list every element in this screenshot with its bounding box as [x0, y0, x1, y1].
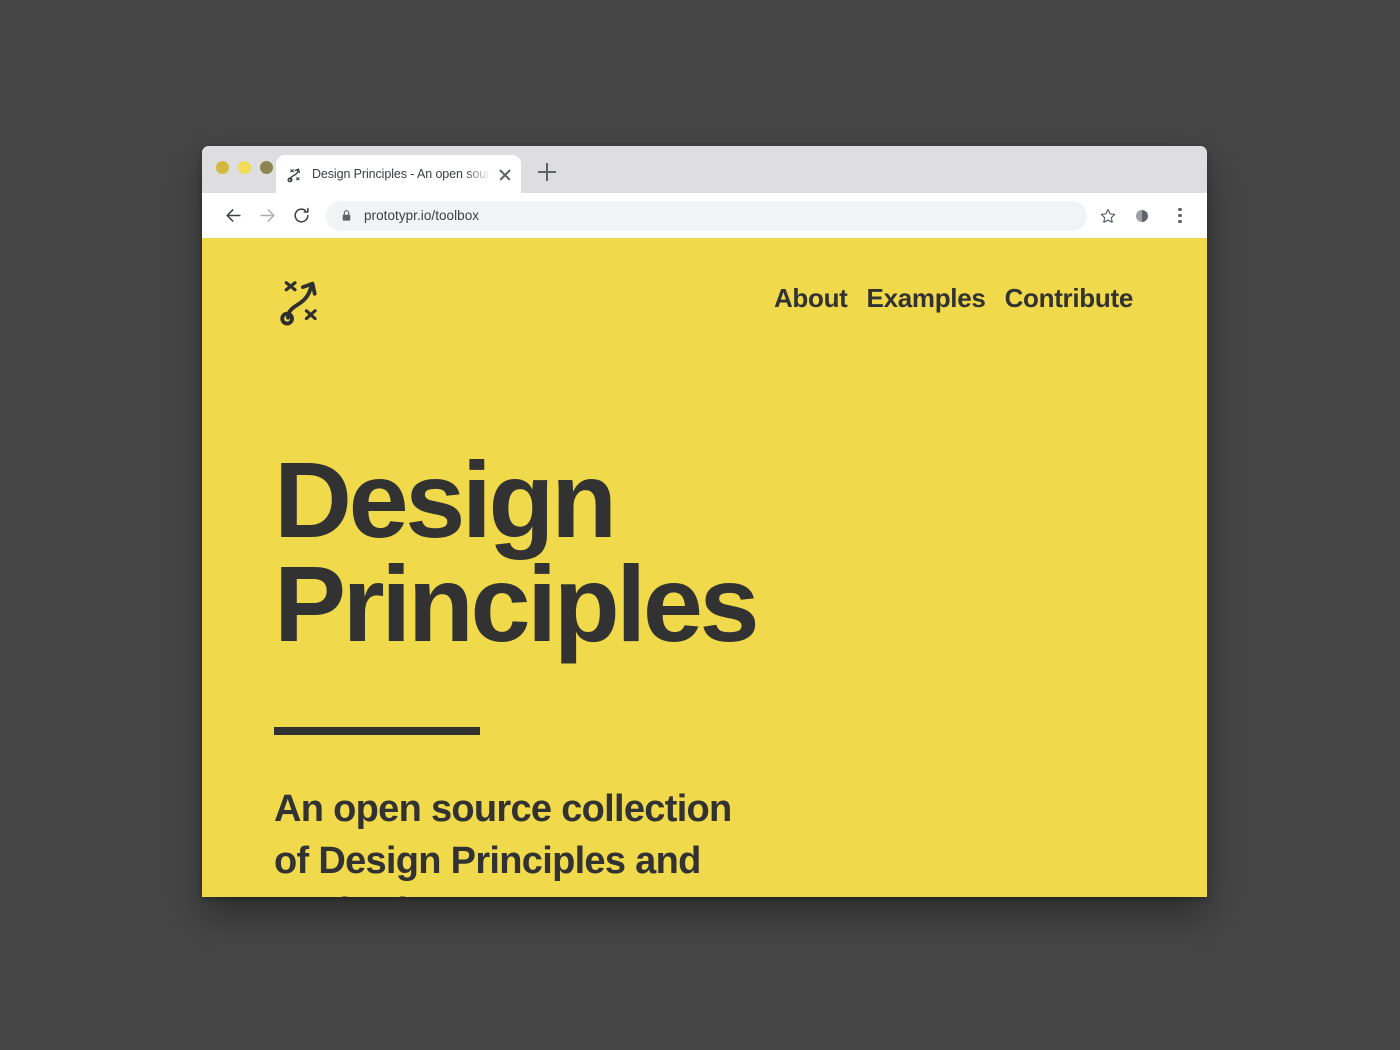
- tab-close-icon[interactable]: [497, 166, 513, 182]
- arrow-left-icon: [224, 206, 243, 225]
- back-button[interactable]: [218, 201, 248, 231]
- forward-button[interactable]: [252, 201, 282, 231]
- hero-divider: [274, 727, 480, 735]
- nav-link-examples[interactable]: Examples: [867, 283, 986, 314]
- address-bar-url: prototypr.io/toolbox: [364, 208, 479, 223]
- menu-dot: [1178, 208, 1181, 211]
- menu-dot: [1178, 214, 1181, 217]
- reload-icon: [292, 206, 311, 225]
- star-icon: [1099, 207, 1117, 225]
- reload-button[interactable]: [286, 201, 316, 231]
- close-window-button[interactable]: [216, 161, 229, 174]
- browser-tab[interactable]: Design Principles - An open sourc: [276, 155, 521, 193]
- new-tab-button[interactable]: [535, 160, 559, 184]
- browser-tab-title: Design Principles - An open sourc: [312, 167, 493, 181]
- browser-menu-button[interactable]: [1165, 201, 1195, 231]
- profile-avatar-icon[interactable]: [1129, 201, 1159, 231]
- lock-icon: [340, 209, 353, 222]
- page-content: About Examples Contribute Design Princip…: [202, 238, 1207, 897]
- profile-icon: [1136, 208, 1152, 224]
- browser-tab-strip: Design Principles - An open sourc: [202, 146, 1207, 193]
- arrow-right-icon: [258, 206, 277, 225]
- menu-dot: [1178, 220, 1181, 223]
- hero-title: Design Principles: [274, 448, 1147, 655]
- nav-link-contribute[interactable]: Contribute: [1005, 283, 1133, 314]
- browser-toolbar: prototypr.io/toolbox: [202, 193, 1207, 238]
- maximize-window-button[interactable]: [260, 161, 273, 174]
- browser-window: Design Principles - An open sourc: [202, 146, 1207, 897]
- strategy-path-icon: [286, 166, 303, 183]
- address-bar[interactable]: prototypr.io/toolbox: [326, 201, 1087, 231]
- window-traffic-lights: [216, 161, 273, 174]
- site-navigation: About Examples Contribute: [774, 283, 1133, 314]
- hero-section: Design Principles An open source collect…: [274, 448, 1147, 897]
- minimize-window-button[interactable]: [238, 161, 251, 174]
- hero-subtitle: An open source collection of Design Prin…: [274, 784, 834, 897]
- nav-link-about[interactable]: About: [774, 283, 848, 314]
- bookmark-star-icon[interactable]: [1093, 201, 1123, 231]
- site-header: About Examples Contribute: [202, 238, 1207, 358]
- strategy-path-logo[interactable]: [274, 274, 330, 330]
